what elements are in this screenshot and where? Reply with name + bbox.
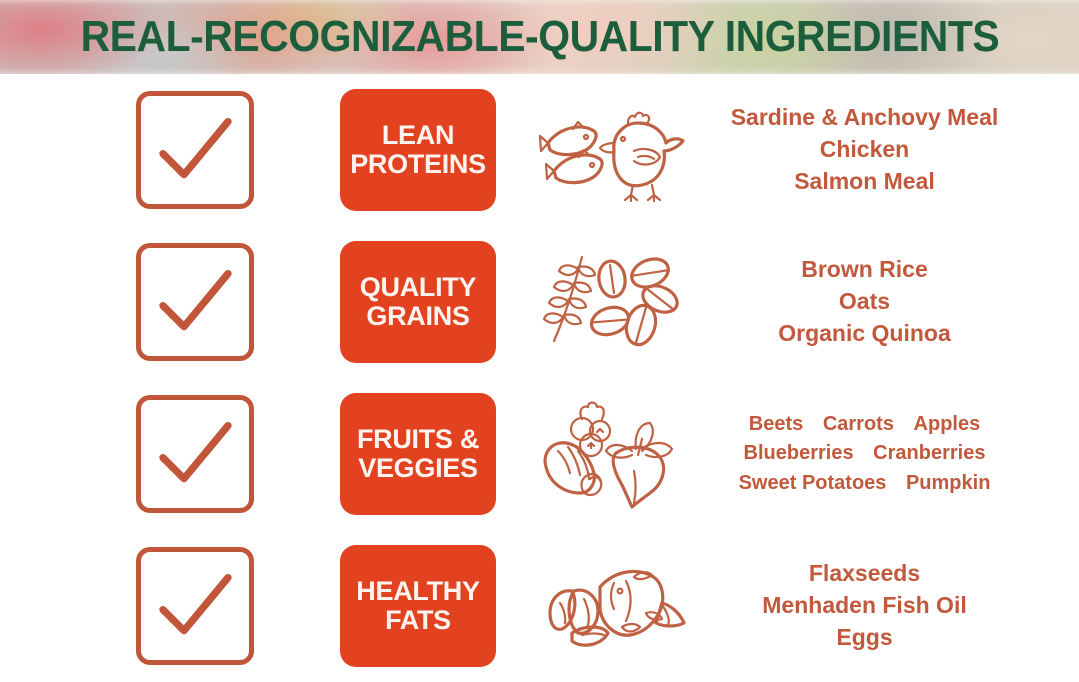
page-title-text: REAL-RECOGNIZABLE-QUALITY INGREDIENTS [80, 15, 999, 59]
checkmark-icon [141, 552, 249, 660]
flaxseeds-and-fish-icon [538, 551, 688, 661]
ingredient-item: Flaxseeds [809, 560, 920, 586]
badge-line-1: FRUITS & [357, 425, 479, 454]
ingredients-cell: Brown Rice Oats Organic Quinoa [708, 254, 1079, 349]
ingredient-item: Sardine & Anchovy Meal [731, 104, 999, 130]
icon-cell [518, 95, 708, 205]
icon-cell [518, 551, 708, 661]
badge-line-2: VEGGIES [358, 454, 477, 483]
ingredient-line: Salmon Meal [731, 166, 999, 198]
ingredient-line: Menhaden Fish Oil [762, 590, 966, 622]
badge-fruits-veggies[interactable]: FRUITS & VEGGIES [340, 393, 496, 515]
ingredient-item: Chicken [820, 136, 909, 162]
ingredient-item: Carrots [823, 413, 894, 435]
category-row-quality-grains: QUALITY GRAINS [0, 226, 1079, 378]
badge-line-2: FATS [385, 606, 451, 635]
wheat-and-grains-icon [538, 247, 688, 357]
icon-cell [518, 247, 708, 357]
ingredient-item: Salmon Meal [794, 168, 935, 194]
badge-quality-grains[interactable]: QUALITY GRAINS [340, 241, 496, 363]
checkbox-cell [0, 243, 318, 361]
checkbox-cell [0, 395, 318, 513]
badge-line-2: PROTEINS [350, 150, 486, 179]
ingredient-line: Beets Carrots Apples [739, 410, 991, 440]
ingredient-list-lean-proteins: Sardine & Anchovy Meal Chicken Salmon Me… [731, 102, 999, 197]
ingredient-line: Chicken [731, 134, 999, 166]
ingredient-line: Organic Quinoa [778, 318, 951, 350]
sweet-potato-blueberries-beet-icon [538, 399, 688, 509]
category-row-healthy-fats: HEALTHY FATS [0, 530, 1079, 682]
ingredient-item: Cranberries [873, 442, 985, 464]
ingredients-cell: Sardine & Anchovy Meal Chicken Salmon Me… [708, 102, 1079, 197]
ingredient-item: Organic Quinoa [778, 320, 951, 346]
ingredient-line: Brown Rice [778, 254, 951, 286]
badge-cell: LEAN PROTEINS [318, 89, 518, 211]
ingredient-item: Brown Rice [801, 256, 928, 282]
badge-cell: FRUITS & VEGGIES [318, 393, 518, 515]
checkmark-icon [141, 248, 249, 356]
checkbox-healthy-fats[interactable] [136, 547, 254, 665]
badge-cell: QUALITY GRAINS [318, 241, 518, 363]
fish-and-chicken-icon [538, 95, 688, 205]
ingredient-item: Menhaden Fish Oil [762, 592, 966, 618]
badge-line-1: QUALITY [360, 273, 476, 302]
category-row-lean-proteins: LEAN PROTEINS [0, 74, 1079, 226]
category-row-fruits-veggies: FRUITS & VEGGIES [0, 378, 1079, 530]
badge-line-2: GRAINS [366, 302, 469, 331]
badge-healthy-fats[interactable]: HEALTHY FATS [340, 545, 496, 667]
header-banner: REAL-RECOGNIZABLE-QUALITY INGREDIENTS [0, 0, 1079, 74]
checkbox-quality-grains[interactable] [136, 243, 254, 361]
ingredient-line: Flaxseeds [762, 558, 966, 590]
ingredient-list-fruits-veggies: Beets Carrots Apples Blueberries Cranber… [739, 410, 991, 499]
ingredient-item: Pumpkin [906, 472, 990, 494]
ingredient-line: Sweet Potatoes Pumpkin [739, 469, 991, 499]
ingredients-cell: Beets Carrots Apples Blueberries Cranber… [708, 410, 1079, 499]
badge-line-1: LEAN [382, 121, 454, 150]
ingredient-list-healthy-fats: Flaxseeds Menhaden Fish Oil Eggs [762, 558, 966, 653]
page-title: REAL-RECOGNIZABLE-QUALITY INGREDIENTS [0, 15, 1079, 59]
checkbox-cell [0, 91, 318, 209]
ingredient-line: Oats [778, 286, 951, 318]
checkmark-icon [141, 96, 249, 204]
ingredient-list-quality-grains: Brown Rice Oats Organic Quinoa [778, 254, 951, 349]
icon-cell [518, 399, 708, 509]
ingredient-item: Apples [914, 413, 981, 435]
checkbox-fruits-veggies[interactable] [136, 395, 254, 513]
ingredient-item: Sweet Potatoes [739, 472, 887, 494]
badge-cell: HEALTHY FATS [318, 545, 518, 667]
badge-line-1: HEALTHY [356, 577, 479, 606]
ingredient-item: Oats [839, 288, 890, 314]
ingredient-line: Sardine & Anchovy Meal [731, 102, 999, 134]
checkbox-lean-proteins[interactable] [136, 91, 254, 209]
ingredient-line: Blueberries Cranberries [739, 439, 991, 469]
badge-lean-proteins[interactable]: LEAN PROTEINS [340, 89, 496, 211]
ingredient-item: Blueberries [744, 442, 854, 464]
ingredient-item: Beets [749, 413, 803, 435]
ingredient-line: Eggs [762, 622, 966, 654]
ingredient-category-list: LEAN PROTEINS [0, 74, 1079, 682]
checkmark-icon [141, 400, 249, 508]
checkbox-cell [0, 547, 318, 665]
ingredient-item: Eggs [836, 624, 892, 650]
ingredients-cell: Flaxseeds Menhaden Fish Oil Eggs [708, 558, 1079, 653]
